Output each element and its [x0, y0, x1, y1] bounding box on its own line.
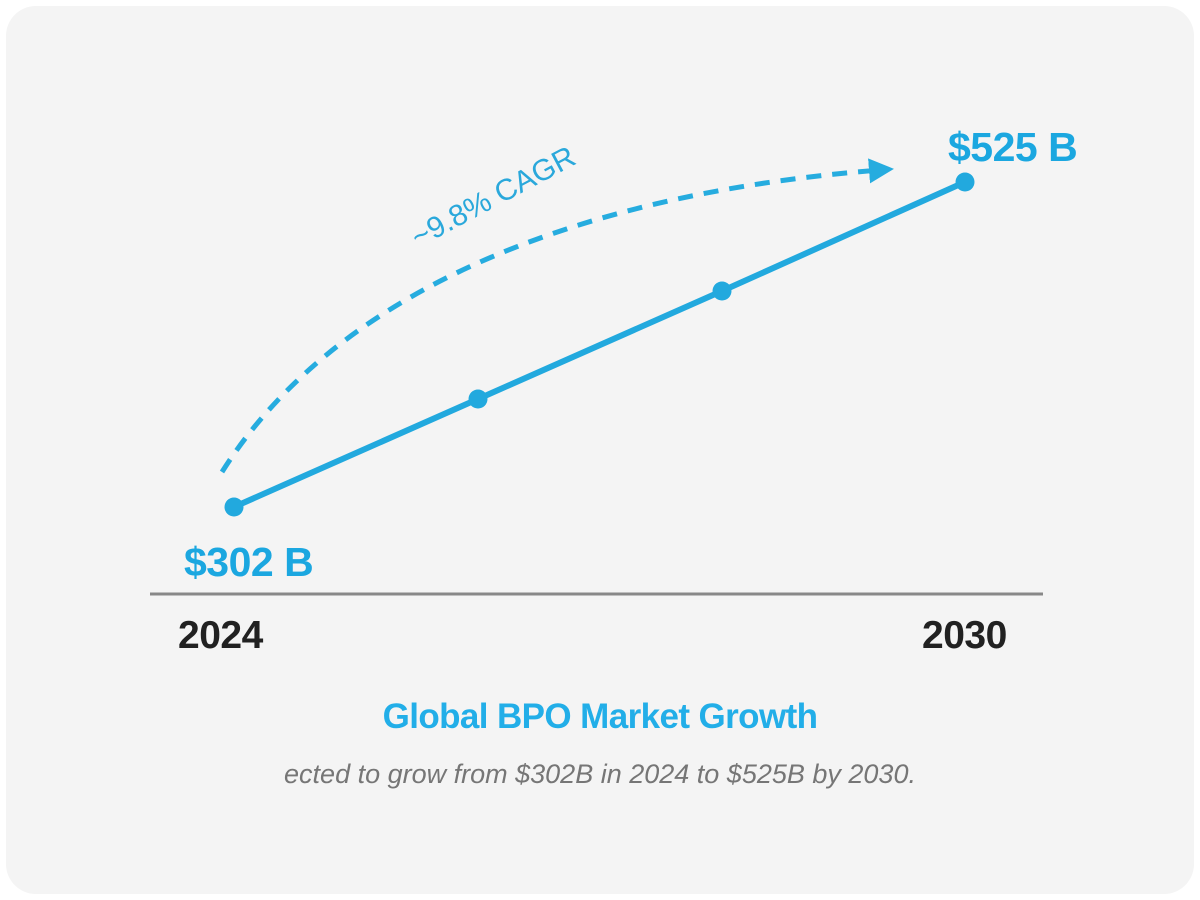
x-axis-tick-2024: 2024	[178, 614, 263, 658]
market-size-line	[234, 182, 965, 507]
data-point-marker	[713, 282, 732, 301]
caption-block: Global BPO Market Growth ected to grow f…	[6, 694, 1194, 791]
cagr-annotation-label: ~9.8% CAGR	[406, 140, 581, 254]
value-label-start: $302 B	[184, 539, 313, 586]
x-axis-tick-2030: 2030	[922, 614, 1007, 658]
value-label-end: $525 B	[948, 124, 1077, 171]
figure-card: ~9.8% CAGR $302 B $525 B 2024 2030 Globa…	[6, 6, 1194, 894]
data-point-marker	[956, 173, 975, 192]
trend-curve-dashed	[222, 170, 880, 472]
data-point-marker	[469, 390, 488, 409]
chart-title: Global BPO Market Growth	[6, 694, 1194, 740]
data-point-marker	[225, 498, 244, 517]
chart-subtitle: ected to grow from $302B in 2024 to $525…	[6, 757, 1194, 791]
